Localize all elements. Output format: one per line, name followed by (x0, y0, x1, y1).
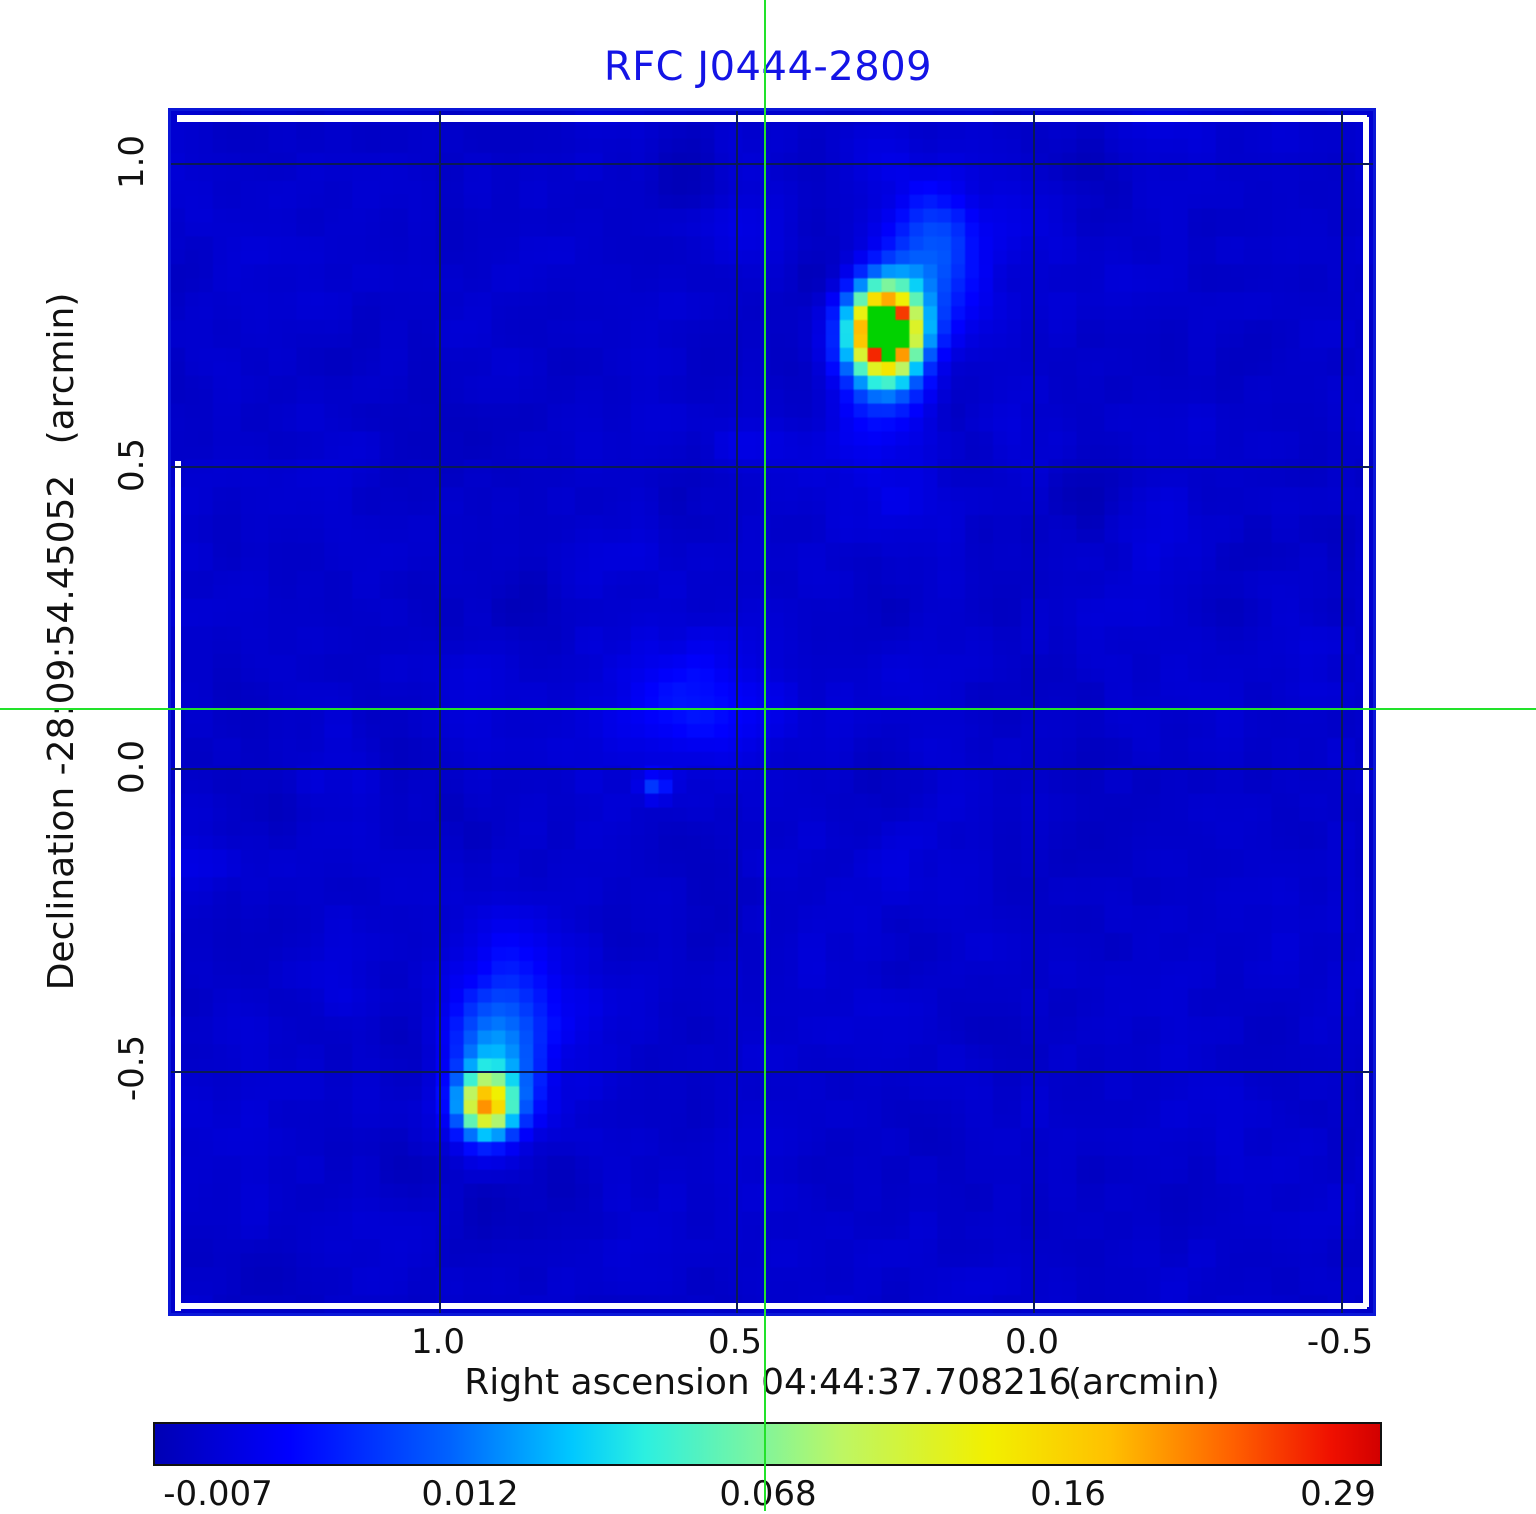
x-tick-label-2: 0.5 (708, 1322, 762, 1362)
x-axis-title: Right ascension 04:44:37.708216 (0, 1362, 1536, 1403)
y-tick-label-2: 0.5 (112, 438, 152, 492)
colorbar[interactable] (153, 1422, 1382, 1466)
colorbar-tick-1: -0.007 (163, 1474, 273, 1514)
colorbar-tick-2: 0.012 (421, 1474, 518, 1514)
sky-image-panel[interactable] (168, 108, 1376, 1316)
y-axis-unit: (arcmin) (41, 293, 82, 445)
x-tick-label-1: 1.0 (411, 1322, 465, 1362)
y-tick-label-1: 1.0 (112, 135, 152, 189)
y-axis-title: Declination -28:09:54.45052 (41, 475, 82, 991)
colorbar-tick-4: 0.16 (1030, 1474, 1106, 1514)
colorbar-gradient[interactable] (153, 1422, 1382, 1466)
x-tick-label-3: 0.0 (1005, 1322, 1059, 1362)
colorbar-tick-5: 0.29 (1300, 1474, 1376, 1514)
y-tick-label-3: 0.0 (112, 740, 152, 794)
y-tick-label-4: -0.5 (112, 1035, 152, 1101)
x-tick-label-4: -0.5 (1307, 1322, 1373, 1362)
sky-heatmap-canvas[interactable] (171, 111, 1373, 1313)
x-axis-unit: (arcmin) (1068, 1362, 1220, 1403)
page-title: RFC J0444-2809 (0, 44, 1536, 90)
colorbar-tick-3: 0.068 (719, 1474, 816, 1514)
